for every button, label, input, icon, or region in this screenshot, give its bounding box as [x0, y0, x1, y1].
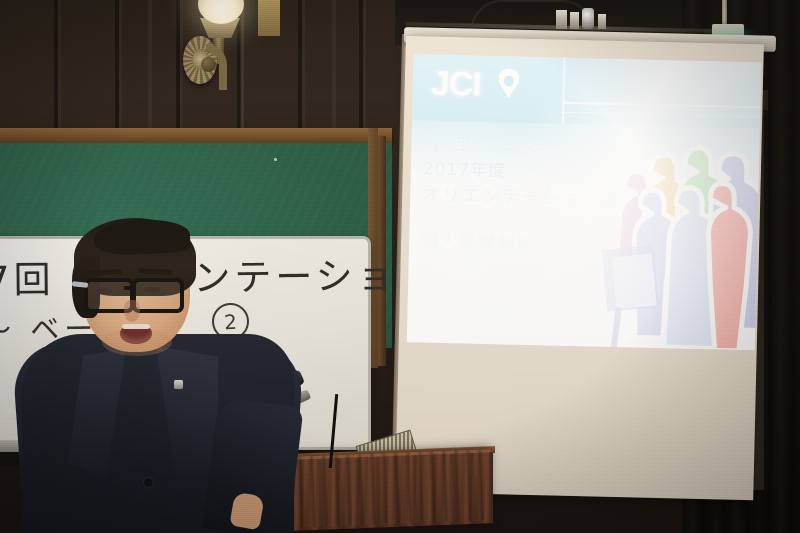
screen-bracket-2: [570, 12, 579, 29]
wall-brass-plate: [258, 0, 280, 36]
slide-text-line-4: 個人登録制度について: [421, 226, 611, 255]
slide-text-line-2: 2017年度: [423, 154, 507, 181]
projection-screen: JCI 第4回オリエンテーション委員会 2017年度 オリエンテーション委員会 …: [395, 36, 764, 500]
lapel-pin: [174, 380, 183, 389]
screen-bracket-3: [598, 14, 606, 29]
silhouette-whiteboard-face: [612, 254, 657, 310]
nose: [124, 300, 140, 322]
jci-logo-text: JCI: [430, 65, 481, 105]
teeth: [122, 324, 150, 329]
photo-scene: 7回 オリエンテーション委員会 〜 ベー 2 JCI 第4回オリエンテーション委…: [0, 0, 800, 533]
screen-bracket-1: [556, 10, 567, 29]
sconce-knob: [201, 57, 216, 72]
people-silhouette-graphic: [603, 109, 762, 351]
chalk-mark: [274, 158, 277, 161]
curtain-shadow-strip: [764, 110, 772, 490]
presenter: [28, 216, 288, 533]
exit-sign-pole: [722, 0, 727, 26]
eyeglasses-bridge: [124, 286, 136, 290]
chalkboard-frame-right-inner: [378, 136, 386, 366]
projected-slide: JCI 第4回オリエンテーション委員会 2017年度 オリエンテーション委員会 …: [407, 54, 762, 350]
screen-bracket-knob: [582, 8, 594, 29]
hand: [229, 492, 264, 531]
slide-text-line-5: 〜メンバーシップ拡大〜: [420, 252, 574, 275]
jacket-button: [144, 478, 153, 487]
